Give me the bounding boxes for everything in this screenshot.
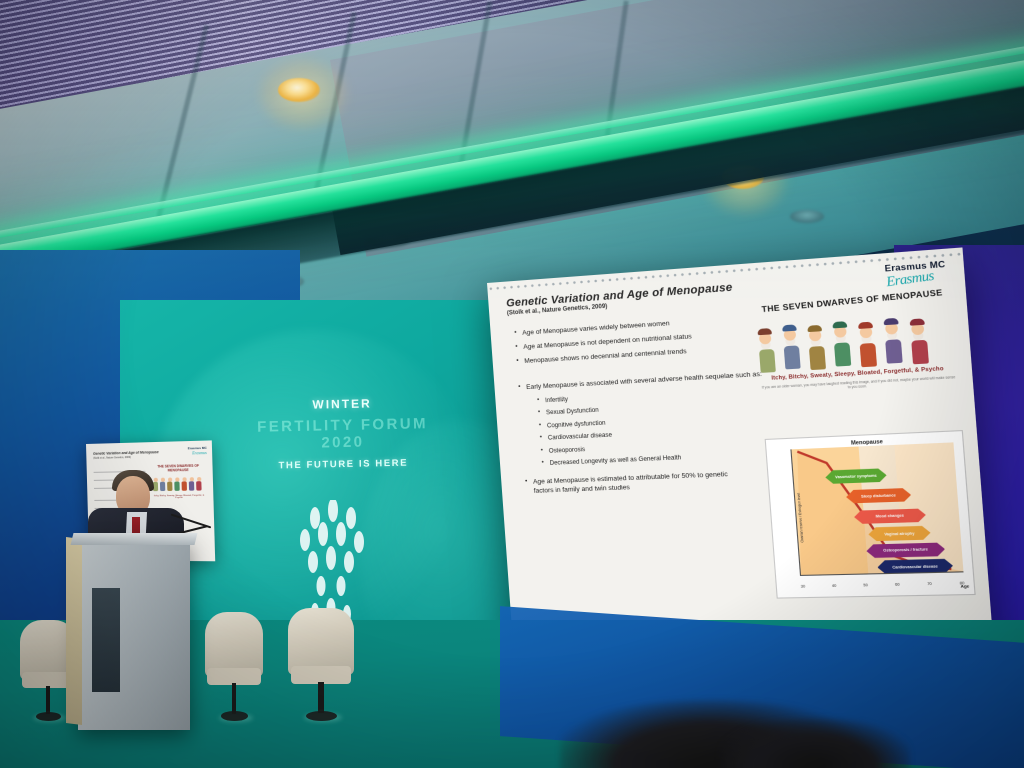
dwarf-hat bbox=[883, 318, 898, 325]
chart-x-tick: 70 bbox=[927, 582, 932, 586]
cartoon-dwarf bbox=[807, 329, 827, 370]
chair-post bbox=[46, 686, 50, 714]
dwarf-body bbox=[911, 340, 929, 365]
dwarf-hat bbox=[910, 318, 925, 325]
chart-plot-area: Vasomotor symptomsSleep disturbanceMood … bbox=[790, 442, 963, 576]
ceiling-downlight bbox=[278, 78, 320, 102]
cartoon-dwarf bbox=[857, 326, 877, 367]
chart-annotation-banner: Vaginal atrophy bbox=[868, 526, 931, 542]
chart-title: Menopause bbox=[851, 439, 883, 447]
dwarf-body bbox=[758, 349, 775, 373]
dwarf-body bbox=[885, 339, 903, 363]
event-branding: WINTER FERTILITY FORUM 2020 THE FUTURE I… bbox=[247, 396, 439, 500]
stage-chair bbox=[205, 612, 263, 720]
monitor-cartoon-dwarf bbox=[181, 477, 187, 490]
bullet-closing: Age at Menopause is estimated to attribu… bbox=[533, 471, 746, 497]
monitor-cartoon-dwarf bbox=[160, 478, 165, 491]
podium bbox=[78, 540, 190, 730]
cartoon-dwarf bbox=[832, 325, 852, 366]
chart-annotation-banner: Osteoporosis / fracture bbox=[866, 542, 946, 558]
chart-x-tick: 40 bbox=[832, 584, 837, 588]
cartoon-dwarf bbox=[781, 329, 800, 370]
cartoon-figures bbox=[755, 301, 955, 372]
chair-back bbox=[205, 612, 263, 677]
monitor-cartoon-dwarf bbox=[174, 477, 180, 490]
dwarf-hat bbox=[782, 324, 797, 331]
chair-post bbox=[232, 683, 237, 713]
stage-chair bbox=[288, 608, 354, 720]
dwarf-body bbox=[189, 481, 194, 490]
erasmus-mc-logo: Erasmus MC Erasmus bbox=[884, 259, 947, 289]
monitor-cartoon-caption: Itchy, Bitchy, Sweaty, Sleepy, Bloated, … bbox=[153, 495, 205, 500]
chart-annotation-banner: Cardiovascular disease bbox=[877, 559, 954, 575]
seven-dwarves-cartoon: THE SEVEN DWARVES OF MENOPAUSE Itchy, Bi… bbox=[754, 290, 957, 394]
dwarf-hat bbox=[832, 321, 847, 328]
chart-x-axis-label: Age bbox=[960, 583, 969, 589]
brand-line-3: THE FUTURE IS HERE bbox=[248, 458, 438, 473]
dwarf-body bbox=[160, 482, 165, 491]
chart-x-tick: 50 bbox=[863, 583, 868, 587]
monitor-cartoon-dwarf bbox=[189, 477, 195, 491]
cartoon-dwarf bbox=[757, 332, 776, 373]
podium-monitor-panel bbox=[92, 588, 120, 692]
dwarf-body bbox=[783, 345, 800, 369]
monitor-cartoon-dwarf bbox=[196, 477, 202, 491]
ceiling-vent bbox=[790, 210, 824, 223]
dwarf-body bbox=[808, 346, 825, 370]
cartoon-dwarf bbox=[909, 323, 929, 365]
dwarf-body bbox=[167, 482, 172, 491]
brand-line-1: WINTER bbox=[247, 396, 437, 414]
chart-x-tick: 30 bbox=[801, 584, 806, 588]
dwarf-hat bbox=[858, 322, 873, 329]
cartoon-dwarf bbox=[883, 322, 903, 364]
dwarf-body bbox=[859, 343, 876, 367]
podium-desktop bbox=[71, 533, 198, 545]
chair-base bbox=[221, 711, 248, 721]
monitor-signature: Erasmus bbox=[192, 450, 207, 456]
menopause-chart: Vasomotor symptomsSleep disturbanceMood … bbox=[765, 430, 976, 599]
dwarf-body bbox=[196, 481, 202, 490]
dwarf-hat bbox=[757, 328, 771, 335]
chair-base bbox=[36, 712, 62, 721]
chart-annotation-banner: Vasomotor symptoms bbox=[825, 468, 887, 484]
monitor-cartoon-figures bbox=[153, 472, 205, 491]
monitor-slide-title: Genetic Variation and Age of Menopause bbox=[93, 450, 159, 456]
chair-base bbox=[306, 711, 336, 721]
dwarf-hat bbox=[807, 325, 822, 332]
dwarf-body bbox=[182, 481, 187, 490]
chair-post bbox=[318, 682, 323, 713]
conference-photo-scene: WINTER FERTILITY FORUM 2020 THE FUTURE I… bbox=[0, 0, 1024, 768]
podium-side-panel bbox=[66, 537, 82, 725]
dwarf-body bbox=[174, 482, 179, 491]
brand-line-2: FERTILITY FORUM 2020 bbox=[247, 415, 438, 453]
chart-x-tick: 60 bbox=[895, 582, 900, 586]
chair-back bbox=[288, 608, 354, 675]
monitor-slide-citation: (Stolk et al., Nature Genetics, 2009) bbox=[93, 456, 131, 460]
monitor-cartoon-dwarf bbox=[167, 478, 173, 491]
chart-x-tick-labels: 304050607080 bbox=[801, 581, 965, 589]
chart-annotation-banner: Sleep disturbance bbox=[846, 488, 912, 504]
chart-annotation-banner: Mood changes bbox=[854, 508, 927, 524]
dwarf-body bbox=[833, 342, 850, 366]
